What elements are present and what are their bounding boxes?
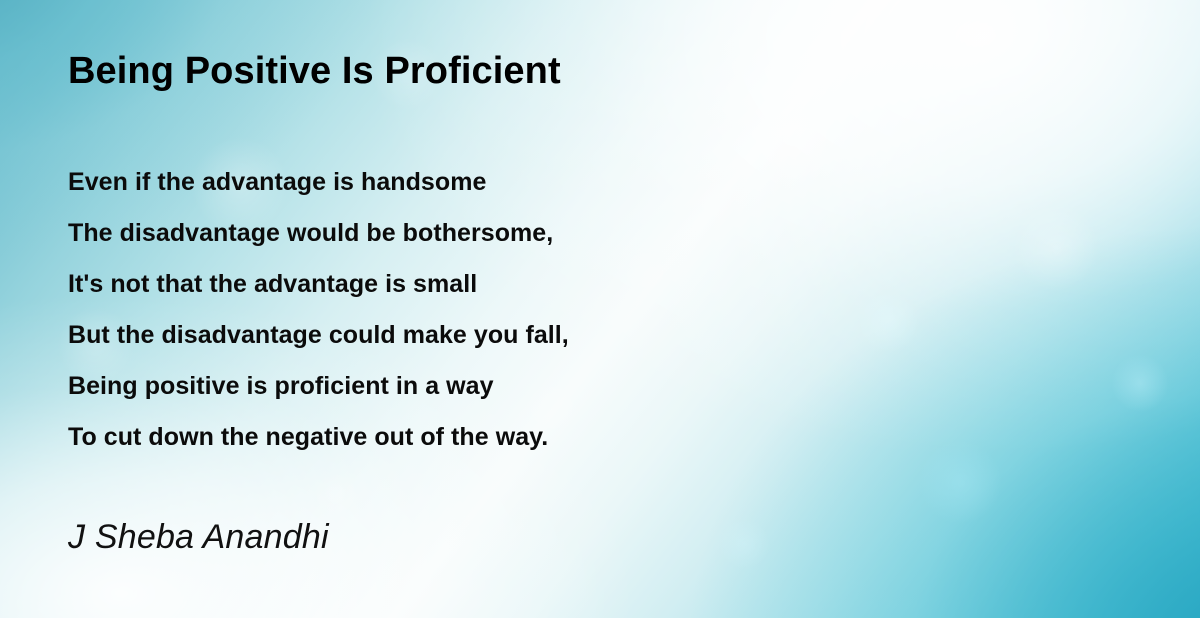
poem-line: To cut down the negative out of the way. xyxy=(68,412,569,463)
poem-line: Even if the advantage is handsome xyxy=(68,157,569,208)
author-credit: J Sheba Anandhi xyxy=(68,518,329,557)
poem-line: It's not that the advantage is small xyxy=(68,259,569,310)
poem-line: But the disadvantage could make you fall… xyxy=(68,310,569,361)
poem-content: Being Positive Is Proficient Even if the… xyxy=(68,0,1148,618)
page-title: Being Positive Is Proficient xyxy=(68,52,561,92)
poem-body: Even if the advantage is handsome The di… xyxy=(68,157,569,463)
poem-line: The disadvantage would be bothersome, xyxy=(68,208,569,259)
poem-line: Being positive is proficient in a way xyxy=(68,361,569,412)
poem-poster: Being Positive Is Proficient Even if the… xyxy=(0,0,1200,618)
